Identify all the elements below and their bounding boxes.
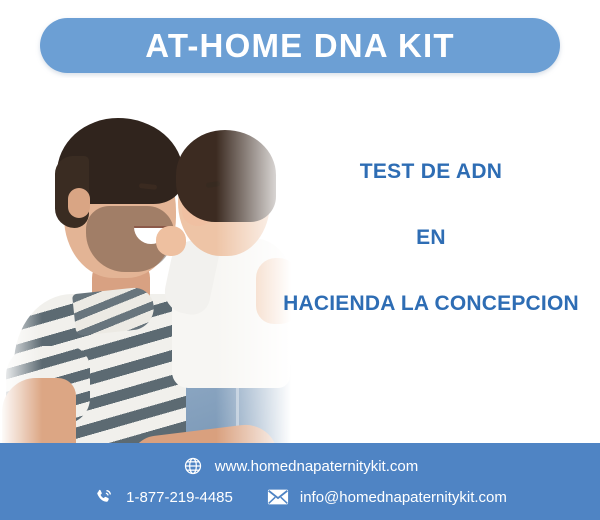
photo-canvas [0, 78, 300, 468]
footer-bar: www.homednapaternitykit.com 1-877-219-44… [0, 443, 600, 520]
headline-location: HACIENDA LA CONCEPCION [258, 292, 600, 316]
headline-spacer-2 [258, 250, 600, 292]
envelope-icon [267, 486, 289, 508]
header-banner: AT-HOME DNA KIT [40, 18, 560, 73]
headline-block: TEST DE ADN EN HACIENDA LA CONCEPCION [258, 160, 600, 316]
father-ear [68, 188, 90, 218]
phone-icon [93, 486, 115, 508]
globe-icon [182, 455, 204, 477]
footer-phone-text: 1-877-219-4485 [126, 489, 233, 506]
footer-website-text: www.homednapaternitykit.com [215, 458, 418, 475]
footer-website[interactable]: www.homednapaternitykit.com [182, 455, 418, 477]
poster-canvas: AT-HOME DNA KIT [0, 0, 600, 520]
headline-line-1: TEST DE ADN [258, 160, 600, 184]
footer-email[interactable]: info@homednapaternitykit.com [267, 486, 507, 508]
footer-phone[interactable]: 1-877-219-4485 [93, 486, 233, 508]
footer-email-text: info@homednapaternitykit.com [300, 489, 507, 506]
header-title: AT-HOME DNA KIT [145, 29, 454, 62]
headline-spacer-1 [258, 184, 600, 226]
family-photo [0, 78, 300, 468]
footer-contact-row: 1-877-219-4485 info@homednapaternitykit.… [0, 486, 600, 508]
child-hand [156, 226, 186, 256]
footer-website-row: www.homednapaternitykit.com [0, 455, 600, 477]
headline-line-2: EN [258, 226, 600, 250]
